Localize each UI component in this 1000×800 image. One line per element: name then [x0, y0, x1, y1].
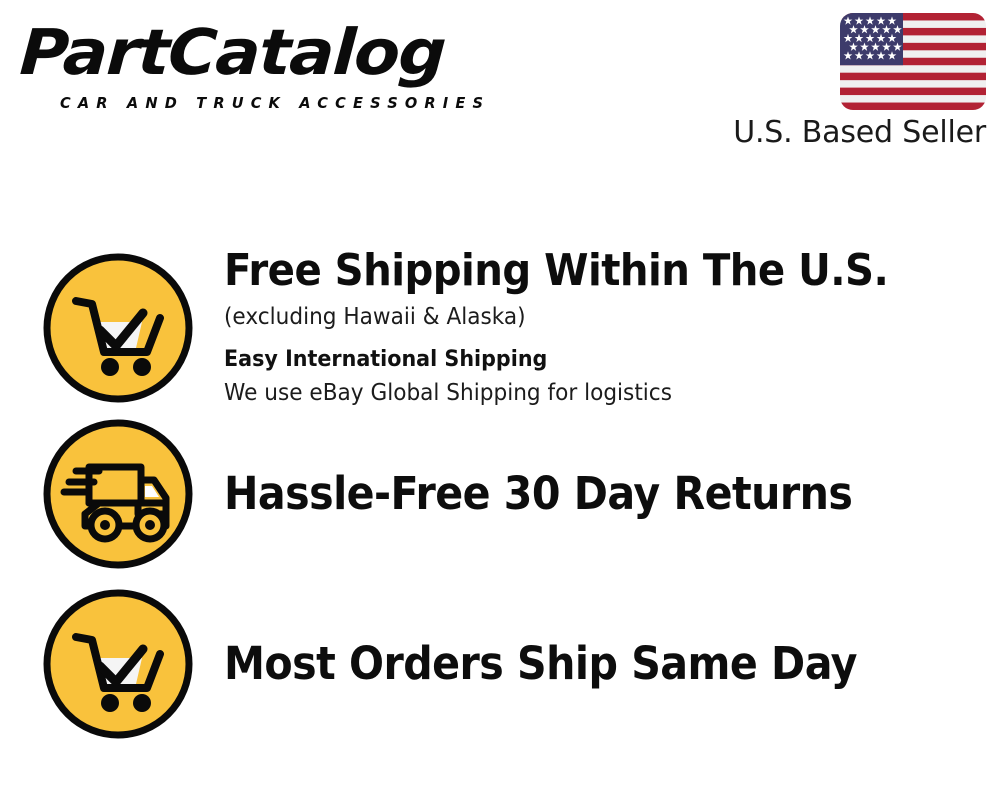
feature-row: Free Shipping Within The U.S. (excluding…	[42, 246, 972, 409]
feature-text-block: Hassle-Free 30 Day Returns	[224, 469, 972, 519]
brand-logo: PartCatalog CAR AND TRUCK ACCESSORIES	[22, 18, 492, 118]
feature-row: Most Orders Ship Same Day	[42, 588, 972, 740]
feature-headline: Free Shipping Within The U.S.	[224, 246, 908, 296]
delivery-truck-icon	[42, 418, 194, 570]
shopping-cart-check-icon	[42, 588, 194, 740]
brand-wordmark: PartCatalog	[18, 18, 520, 88]
seller-badge-label: U.S. Based Seller	[733, 115, 986, 151]
feature-headline: Most Orders Ship Same Day	[224, 639, 908, 689]
feature-subline: (excluding Hawaii & Alaska)	[224, 300, 927, 334]
us-flag-icon	[840, 13, 986, 110]
feature-headline: Hassle-Free 30 Day Returns	[224, 469, 908, 519]
feature-text-block: Free Shipping Within The U.S. (excluding…	[224, 246, 972, 409]
feature-subline-strong: Easy International Shipping	[224, 344, 927, 376]
shopping-cart-check-icon	[42, 252, 194, 404]
feature-subline-plain: We use eBay Global Shipping for logistic…	[224, 377, 927, 409]
feature-row: Hassle-Free 30 Day Returns	[42, 418, 972, 570]
brand-tagline: CAR AND TRUCK ACCESSORIES	[60, 94, 490, 112]
feature-text-block: Most Orders Ship Same Day	[224, 639, 972, 689]
